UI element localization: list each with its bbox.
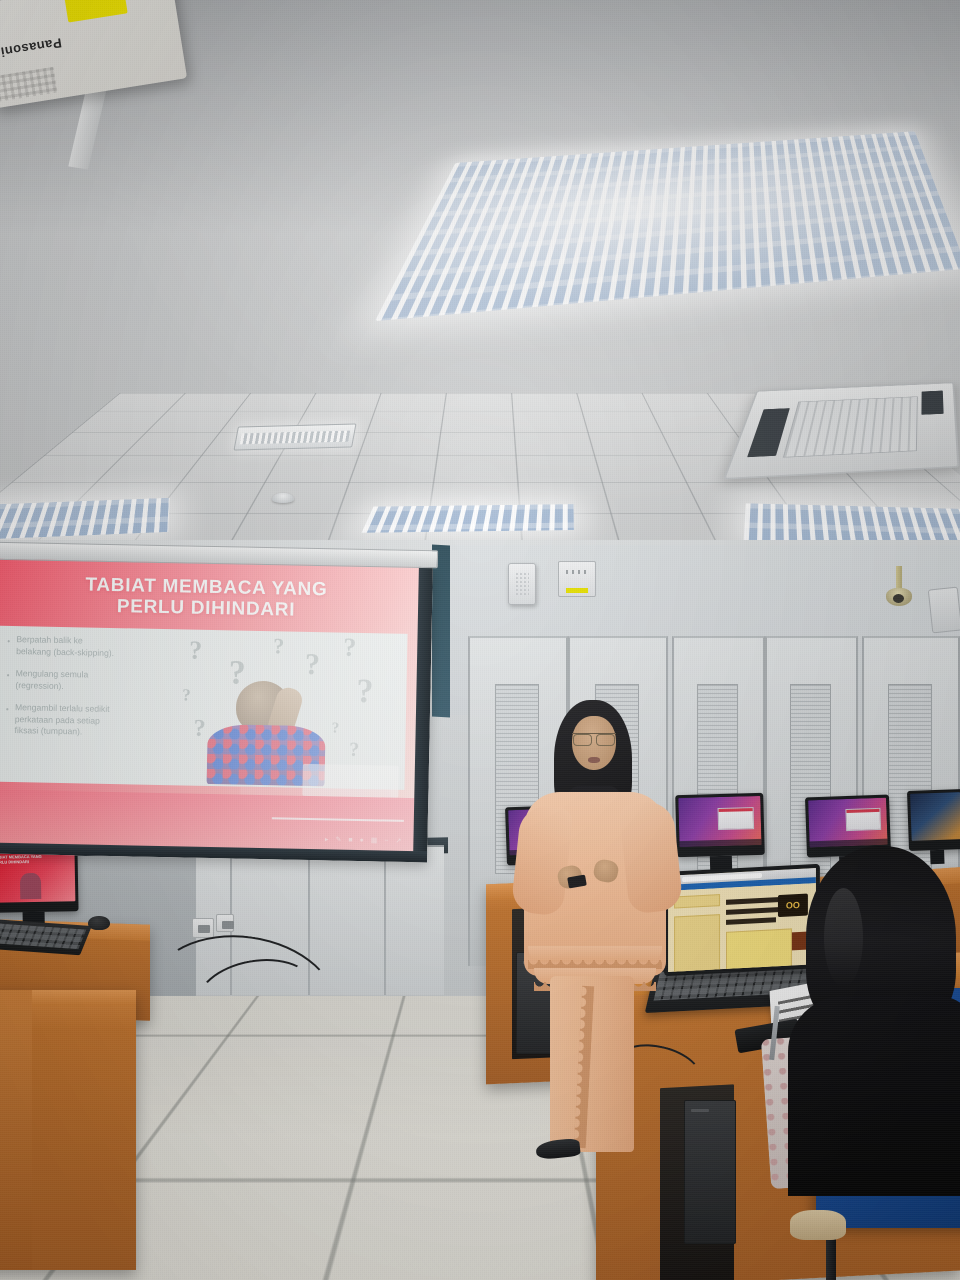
preview-monitor-screen: TABIAT MEMBACA YANG PERLU DIHINDARI xyxy=(0,850,75,902)
preview-monitor: TABIAT MEMBACA YANG PERLU DIHINDARI xyxy=(0,847,79,913)
monitor-screen xyxy=(808,798,888,848)
projection-screen: TABIAT MEMBACA YANG PERLU DIHINDARI ? ? … xyxy=(0,558,433,863)
page-card xyxy=(674,894,720,908)
cctv-mount-pole xyxy=(896,566,902,590)
projector-light-wash xyxy=(0,558,419,852)
ac-vent xyxy=(921,391,944,415)
page-highlight-block xyxy=(726,928,792,972)
preview-slide-title: TABIAT MEMBACA YANG PERLU DIHINDARI xyxy=(0,854,72,865)
desktop-monitor xyxy=(907,789,960,851)
presenter xyxy=(516,700,676,1170)
power-socket-icon[interactable] xyxy=(192,918,214,938)
air-conditioner-cassette-icon xyxy=(723,382,960,480)
cpu-tower-icon xyxy=(684,1100,736,1244)
control-box-tag xyxy=(566,588,588,593)
control-box-dots xyxy=(566,570,590,574)
wall-speaker-icon xyxy=(508,563,536,605)
glasses-icon xyxy=(572,733,616,743)
presenter-sleeve-right xyxy=(618,799,683,914)
presenter-shoe xyxy=(535,1138,581,1161)
windows-taskbar[interactable] xyxy=(679,839,761,847)
open-window[interactable] xyxy=(846,808,881,831)
monitor-screen xyxy=(678,796,761,847)
ac-grille xyxy=(782,396,917,457)
projector-vent xyxy=(0,67,58,102)
keyboard[interactable] xyxy=(0,919,92,956)
projector-brand-label: Panasonic xyxy=(0,35,63,61)
smoke-detector-icon xyxy=(272,493,294,503)
light-louver-grid xyxy=(362,504,574,533)
window-titlebar xyxy=(719,808,753,812)
windows-desktop-wallpaper xyxy=(678,796,761,847)
cctv-camera-icon xyxy=(886,588,912,606)
participant-shoulders xyxy=(788,996,960,1196)
participant-shoe xyxy=(790,1210,846,1240)
preview-slide-figure xyxy=(19,873,41,899)
open-window[interactable] xyxy=(718,807,755,830)
strip-light-icon xyxy=(233,423,356,450)
classroom-photo: Panasonic TABIAT MEMBACA YANG PERLU DIH xyxy=(0,0,960,1280)
power-socket-icon[interactable] xyxy=(216,914,234,932)
presentation-slide: TABIAT MEMBACA YANG PERLU DIHINDARI ? ? … xyxy=(0,558,419,852)
desktop-monitor xyxy=(675,793,765,857)
window-titlebar xyxy=(847,809,879,813)
page-sidebar-card xyxy=(674,914,720,972)
presenter-mouth xyxy=(588,757,600,763)
wall-speaker-right-icon xyxy=(928,587,960,634)
ceiling-light-mid-icon xyxy=(362,504,574,533)
wall-teal-trim xyxy=(432,545,450,718)
page-text-bar xyxy=(726,917,776,925)
wall-control-box-icon xyxy=(558,561,596,597)
desk-side-panel xyxy=(0,990,32,1270)
podium-desk-front xyxy=(0,990,136,1270)
mouse-icon[interactable] xyxy=(88,916,110,930)
wall-panel-seam xyxy=(384,851,386,995)
monitor-screen xyxy=(910,792,960,841)
windows-desktop-wallpaper xyxy=(808,798,888,848)
